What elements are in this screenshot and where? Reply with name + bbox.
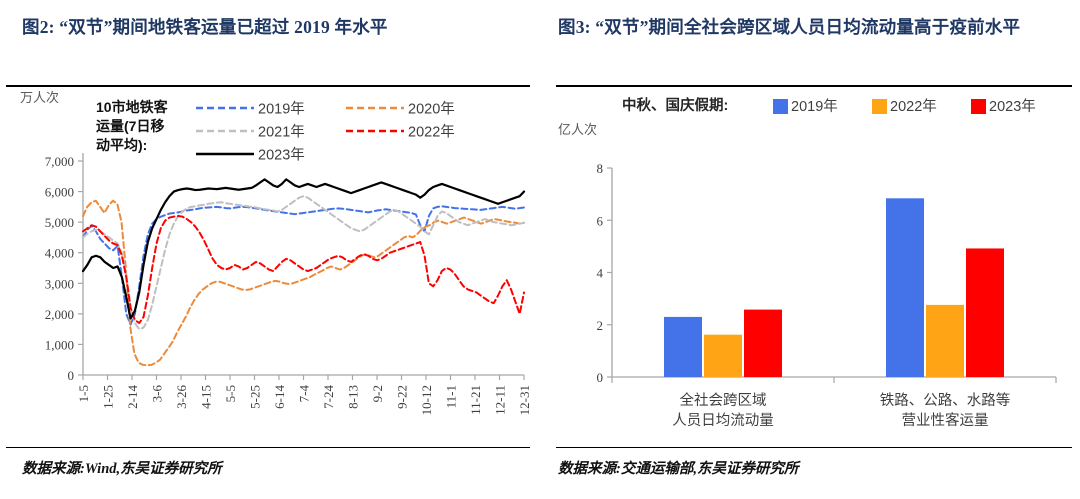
legend-label: 2020年 <box>408 101 455 118</box>
x-tick-label: 5-5 <box>223 385 238 402</box>
y-tick-label: 0 <box>68 368 75 383</box>
x-tick-label: 9-2 <box>370 385 385 402</box>
bar-2019年 <box>664 317 702 377</box>
y-axis-unit-label: 亿人次 <box>558 122 597 137</box>
line-chart-legend: 2019年2020年2021年2022年2023年 <box>196 101 455 164</box>
y-tick-label: 3,000 <box>45 276 74 291</box>
panel-right-source: 数据来源:交通运输部,东吴证券研究所 <box>558 457 798 478</box>
svg-text:动平均):: 动平均): <box>96 137 147 153</box>
legend-item-2019年[interactable]: 2019年 <box>773 98 838 115</box>
legend-label: 2022年 <box>408 124 455 141</box>
y-axis-ticks: 01,0002,0003,0004,0005,0006,0007,000 <box>45 154 83 383</box>
bar-chart-svg: 中秋、国庆假期:2019年2022年2023年亿人次02468全社会跨区域人员日… <box>540 86 1080 446</box>
x-tick-label: 9-22 <box>395 385 410 409</box>
legend-item-2021年[interactable]: 2021年 <box>196 124 305 141</box>
subway-ridership-line-chart: 10市地铁客运量(7日移动平均):2019年2020年2021年2022年202… <box>0 86 540 446</box>
y-tick-label: 0 <box>597 370 604 385</box>
legend-item-2023年[interactable]: 2023年 <box>971 98 1036 115</box>
line-series-group <box>83 179 524 365</box>
y-tick-label: 5,000 <box>45 215 74 230</box>
panel-right-bottom-rule <box>556 447 1072 448</box>
x-tick-label: 12-31 <box>517 385 532 415</box>
legend-label: 2022年 <box>890 98 937 115</box>
y-axis-unit-label: 万人次 <box>20 90 59 105</box>
x-tick-label: 1-5 <box>76 385 91 402</box>
bar-2022年 <box>926 305 964 377</box>
bar-series-group <box>664 198 1004 377</box>
figure-panel-right: 图3: “双节”期间全社会跨区域人员日均流动量高于疫前水平 数据来源:交通运输部… <box>540 0 1080 499</box>
legend-label: 2019年 <box>791 98 838 115</box>
y-tick-label: 6 <box>597 213 604 228</box>
x-tick-label: 11-1 <box>444 385 459 408</box>
legend-item-2020年[interactable]: 2020年 <box>346 101 455 118</box>
panel-left-source: 数据来源:Wind,东吴证券研究所 <box>22 457 222 478</box>
figure-3-title: 图3: “双节”期间全社会跨区域人员日均流动量高于疫前水平 <box>558 14 1070 41</box>
x-tick-label: 3-26 <box>174 385 189 409</box>
legend-label: 2023年 <box>989 98 1036 115</box>
x-tick-label: 5-25 <box>248 385 263 409</box>
legend-item-2022年[interactable]: 2022年 <box>346 124 455 141</box>
bar-2019年 <box>886 198 924 377</box>
svg-text:运量(7日移: 运量(7日移 <box>96 118 164 134</box>
line-series-2021年 <box>83 196 524 329</box>
x-tick-label: 4-15 <box>199 385 214 409</box>
x-tick-label: 11-21 <box>468 385 483 415</box>
y-tick-label: 7,000 <box>45 154 74 169</box>
y-tick-label: 6,000 <box>45 185 74 200</box>
svg-text:10市地铁客: 10市地铁客 <box>96 99 169 115</box>
x-tick-label: 1-25 <box>101 385 116 409</box>
x-tick-label: 3-6 <box>150 385 165 403</box>
line-series-2023年 <box>83 179 524 318</box>
legend-label: 2019年 <box>258 101 305 118</box>
series-note-block: 10市地铁客运量(7日移动平均): <box>96 99 169 153</box>
y-tick-label: 4,000 <box>45 246 74 261</box>
line-series-2020年 <box>83 201 524 365</box>
bar-2023年 <box>744 310 782 377</box>
legend-label: 2023年 <box>258 147 305 164</box>
y-tick-label: 2 <box>597 318 604 333</box>
x-tick-label: 10-12 <box>419 385 434 415</box>
legend-item-2022年[interactable]: 2022年 <box>872 98 937 115</box>
bar-chart-legend: 中秋、国庆假期:2019年2022年2023年 <box>622 96 1036 115</box>
bar-2022年 <box>704 335 742 377</box>
line-series-2019年 <box>83 206 524 324</box>
category-label: 全社会跨区域 <box>680 391 767 409</box>
panel-left-bottom-rule <box>6 447 530 448</box>
x-tick-label: 6-14 <box>272 385 287 409</box>
legend-item-2023年[interactable]: 2023年 <box>196 147 305 164</box>
x-tick-label: 2-14 <box>125 385 140 409</box>
category-label: 人员日均流动量 <box>672 412 774 429</box>
category-labels: 全社会跨区域人员日均流动量铁路、公路、水路等营业性客运量 <box>612 377 1056 429</box>
x-tick-label: 7-24 <box>321 385 336 409</box>
x-tick-label: 8-13 <box>346 385 361 409</box>
y-tick-label: 2,000 <box>45 307 74 322</box>
figure-2-title: 图2: “双节”期间地铁客运量已超过 2019 年水平 <box>22 14 526 41</box>
y-tick-label: 4 <box>597 266 604 281</box>
category-label: 铁路、公路、水路等 <box>880 391 1011 409</box>
legend-label: 2021年 <box>258 124 305 141</box>
legend-item-2019年[interactable]: 2019年 <box>196 101 305 118</box>
x-tick-label: 12-11 <box>493 385 508 415</box>
y-tick-label: 1,000 <box>45 337 74 352</box>
y-tick-label: 8 <box>597 161 604 176</box>
line-chart-svg: 10市地铁客运量(7日移动平均):2019年2020年2021年2022年202… <box>0 86 540 446</box>
x-tick-label: 7-4 <box>297 385 312 403</box>
category-label: 营业性客运量 <box>902 412 989 429</box>
figure-panel-left: 图2: “双节”期间地铁客运量已超过 2019 年水平 数据来源:Wind,东吴… <box>0 0 540 499</box>
bar-2023年 <box>966 248 1004 377</box>
legend-title: 中秋、国庆假期: <box>622 96 728 114</box>
holiday-mobility-bar-chart: 中秋、国庆假期:2019年2022年2023年亿人次02468全社会跨区域人员日… <box>540 86 1080 446</box>
x-axis-ticks: 1-51-252-143-63-264-155-55-256-147-47-24… <box>76 375 532 415</box>
y-axis-ticks: 02468 <box>597 161 613 385</box>
